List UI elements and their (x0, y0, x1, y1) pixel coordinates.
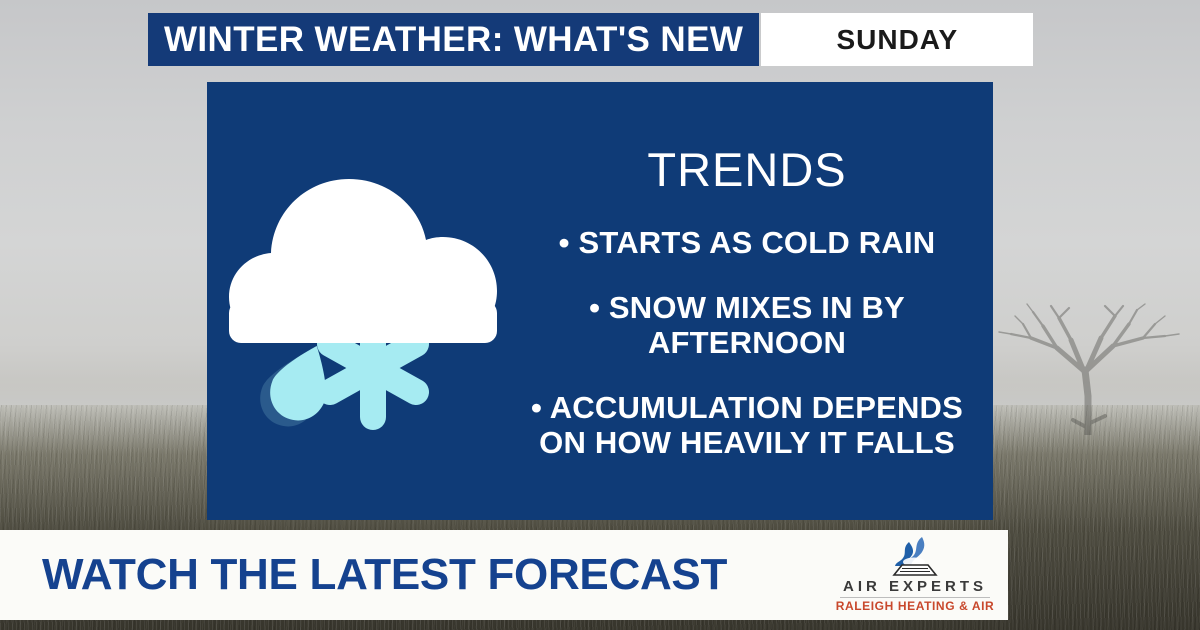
cloud-rain-snow-icon (215, 151, 515, 451)
sponsor-logo[interactable]: AIR EXPERTS RALEIGH HEATING & AIR (822, 530, 1008, 620)
trend-bullet: • SNOW MIXES IN BY AFTERNOON (515, 290, 979, 360)
trend-bullet: • ACCUMULATION DEPENDS ON HOW HEAVILY IT… (515, 390, 979, 460)
day-label: SUNDAY (761, 13, 1033, 66)
logo-name: AIR EXPERTS (843, 579, 987, 594)
forecast-banner[interactable]: WATCH THE LATEST FORECAST AIR EXPERTS RA… (0, 530, 1008, 620)
header: WINTER WEATHER: WHAT'S NEW SUNDAY (148, 13, 1033, 66)
trends-panel: TRENDS • STARTS AS COLD RAIN • SNOW MIXE… (207, 82, 993, 520)
trends-heading: TRENDS (515, 142, 979, 197)
page-title: WINTER WEATHER: WHAT'S NEW (148, 13, 759, 66)
bare-tree-icon (985, 300, 1195, 435)
logo-tagline: RALEIGH HEATING & AIR (836, 600, 995, 612)
trends-content: TRENDS • STARTS AS COLD RAIN • SNOW MIXE… (515, 142, 993, 460)
flame-vent-icon (878, 535, 952, 577)
watch-forecast-cta[interactable]: WATCH THE LATEST FORECAST (0, 550, 822, 600)
logo-divider (840, 597, 990, 598)
trend-bullet: • STARTS AS COLD RAIN (515, 225, 979, 260)
